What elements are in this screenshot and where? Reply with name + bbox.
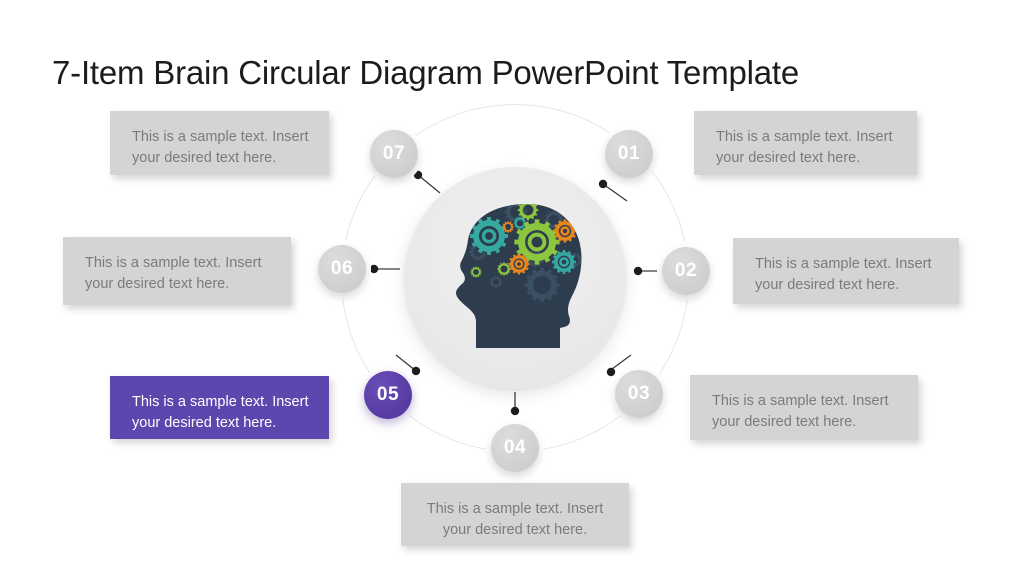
circular-diagram: 01 02 03 04 05 06 07 This is a sample te… [0, 0, 1024, 576]
node-02[interactable]: 02 [662, 247, 710, 295]
node-01[interactable]: 01 [605, 130, 653, 178]
caption-02[interactable]: This is a sample text. Insert your desir… [733, 238, 959, 304]
caption-07[interactable]: This is a sample text. Insert your desir… [110, 111, 329, 175]
caption-04[interactable]: This is a sample text. Insert your desir… [401, 483, 629, 546]
caption-05[interactable]: This is a sample text. Insert your desir… [110, 376, 329, 439]
brain-gears-illustration [432, 190, 600, 348]
caption-06[interactable]: This is a sample text. Insert your desir… [63, 237, 291, 305]
caption-03[interactable]: This is a sample text. Insert your desir… [690, 375, 918, 440]
caption-01[interactable]: This is a sample text. Insert your desir… [694, 111, 917, 175]
node-03[interactable]: 03 [615, 370, 663, 418]
node-07[interactable]: 07 [370, 130, 418, 178]
node-04[interactable]: 04 [491, 424, 539, 472]
node-05[interactable]: 05 [364, 371, 412, 419]
node-06[interactable]: 06 [318, 245, 366, 293]
